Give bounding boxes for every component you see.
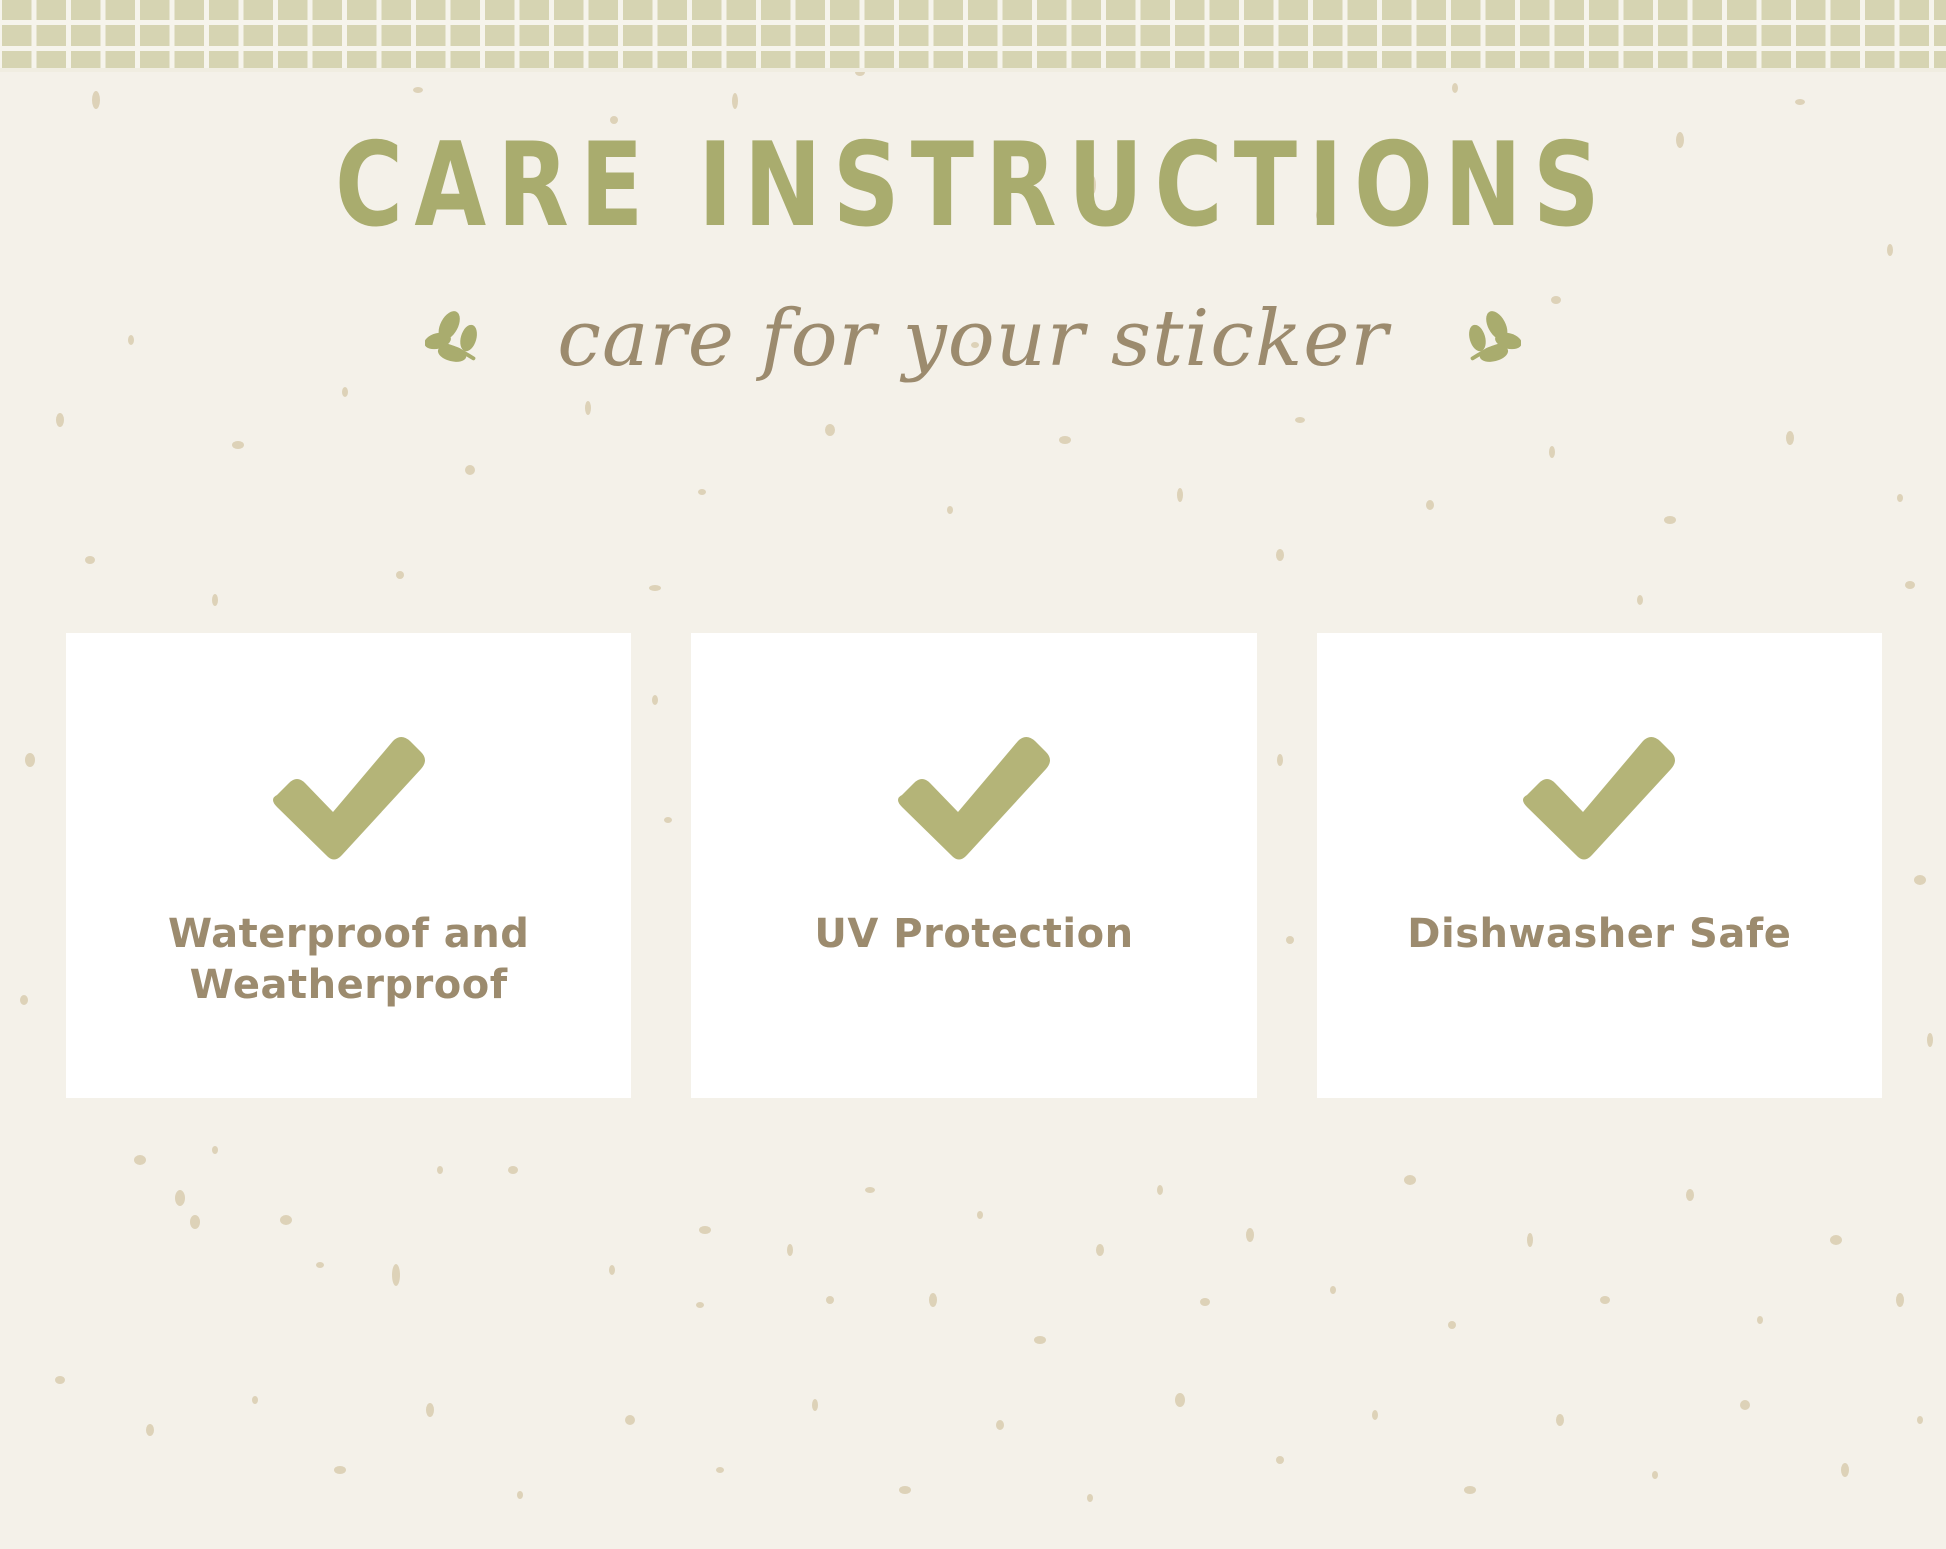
feature-card-label: UV Protection [774,909,1173,960]
grid-band-edge [0,68,1946,72]
feature-card-label: Dishwasher Safe [1367,909,1831,960]
feature-card: Dishwasher Safe [1317,633,1882,1098]
checkered-grid-band [0,0,1946,68]
check-icon [1513,725,1685,865]
feature-card: Waterproof and Weatherproof [66,633,631,1098]
leaf-sprig-icon [425,308,487,370]
page-title: CARE INSTRUCTIONS [195,128,1752,244]
feature-card: UV Protection [691,633,1256,1098]
check-icon [888,725,1060,865]
page-subtitle: care for your sticker [557,300,1388,378]
subtitle-row: care for your sticker [0,300,1946,378]
care-instructions-poster: CARE INSTRUCTIONS care for your sticker [0,0,1946,1549]
check-icon [263,725,435,865]
feature-cards: Waterproof and Weatherproof UV Protectio… [66,633,1882,1098]
feature-card-label: Waterproof and Weatherproof [66,909,631,1011]
leaf-sprig-icon [1459,308,1521,370]
